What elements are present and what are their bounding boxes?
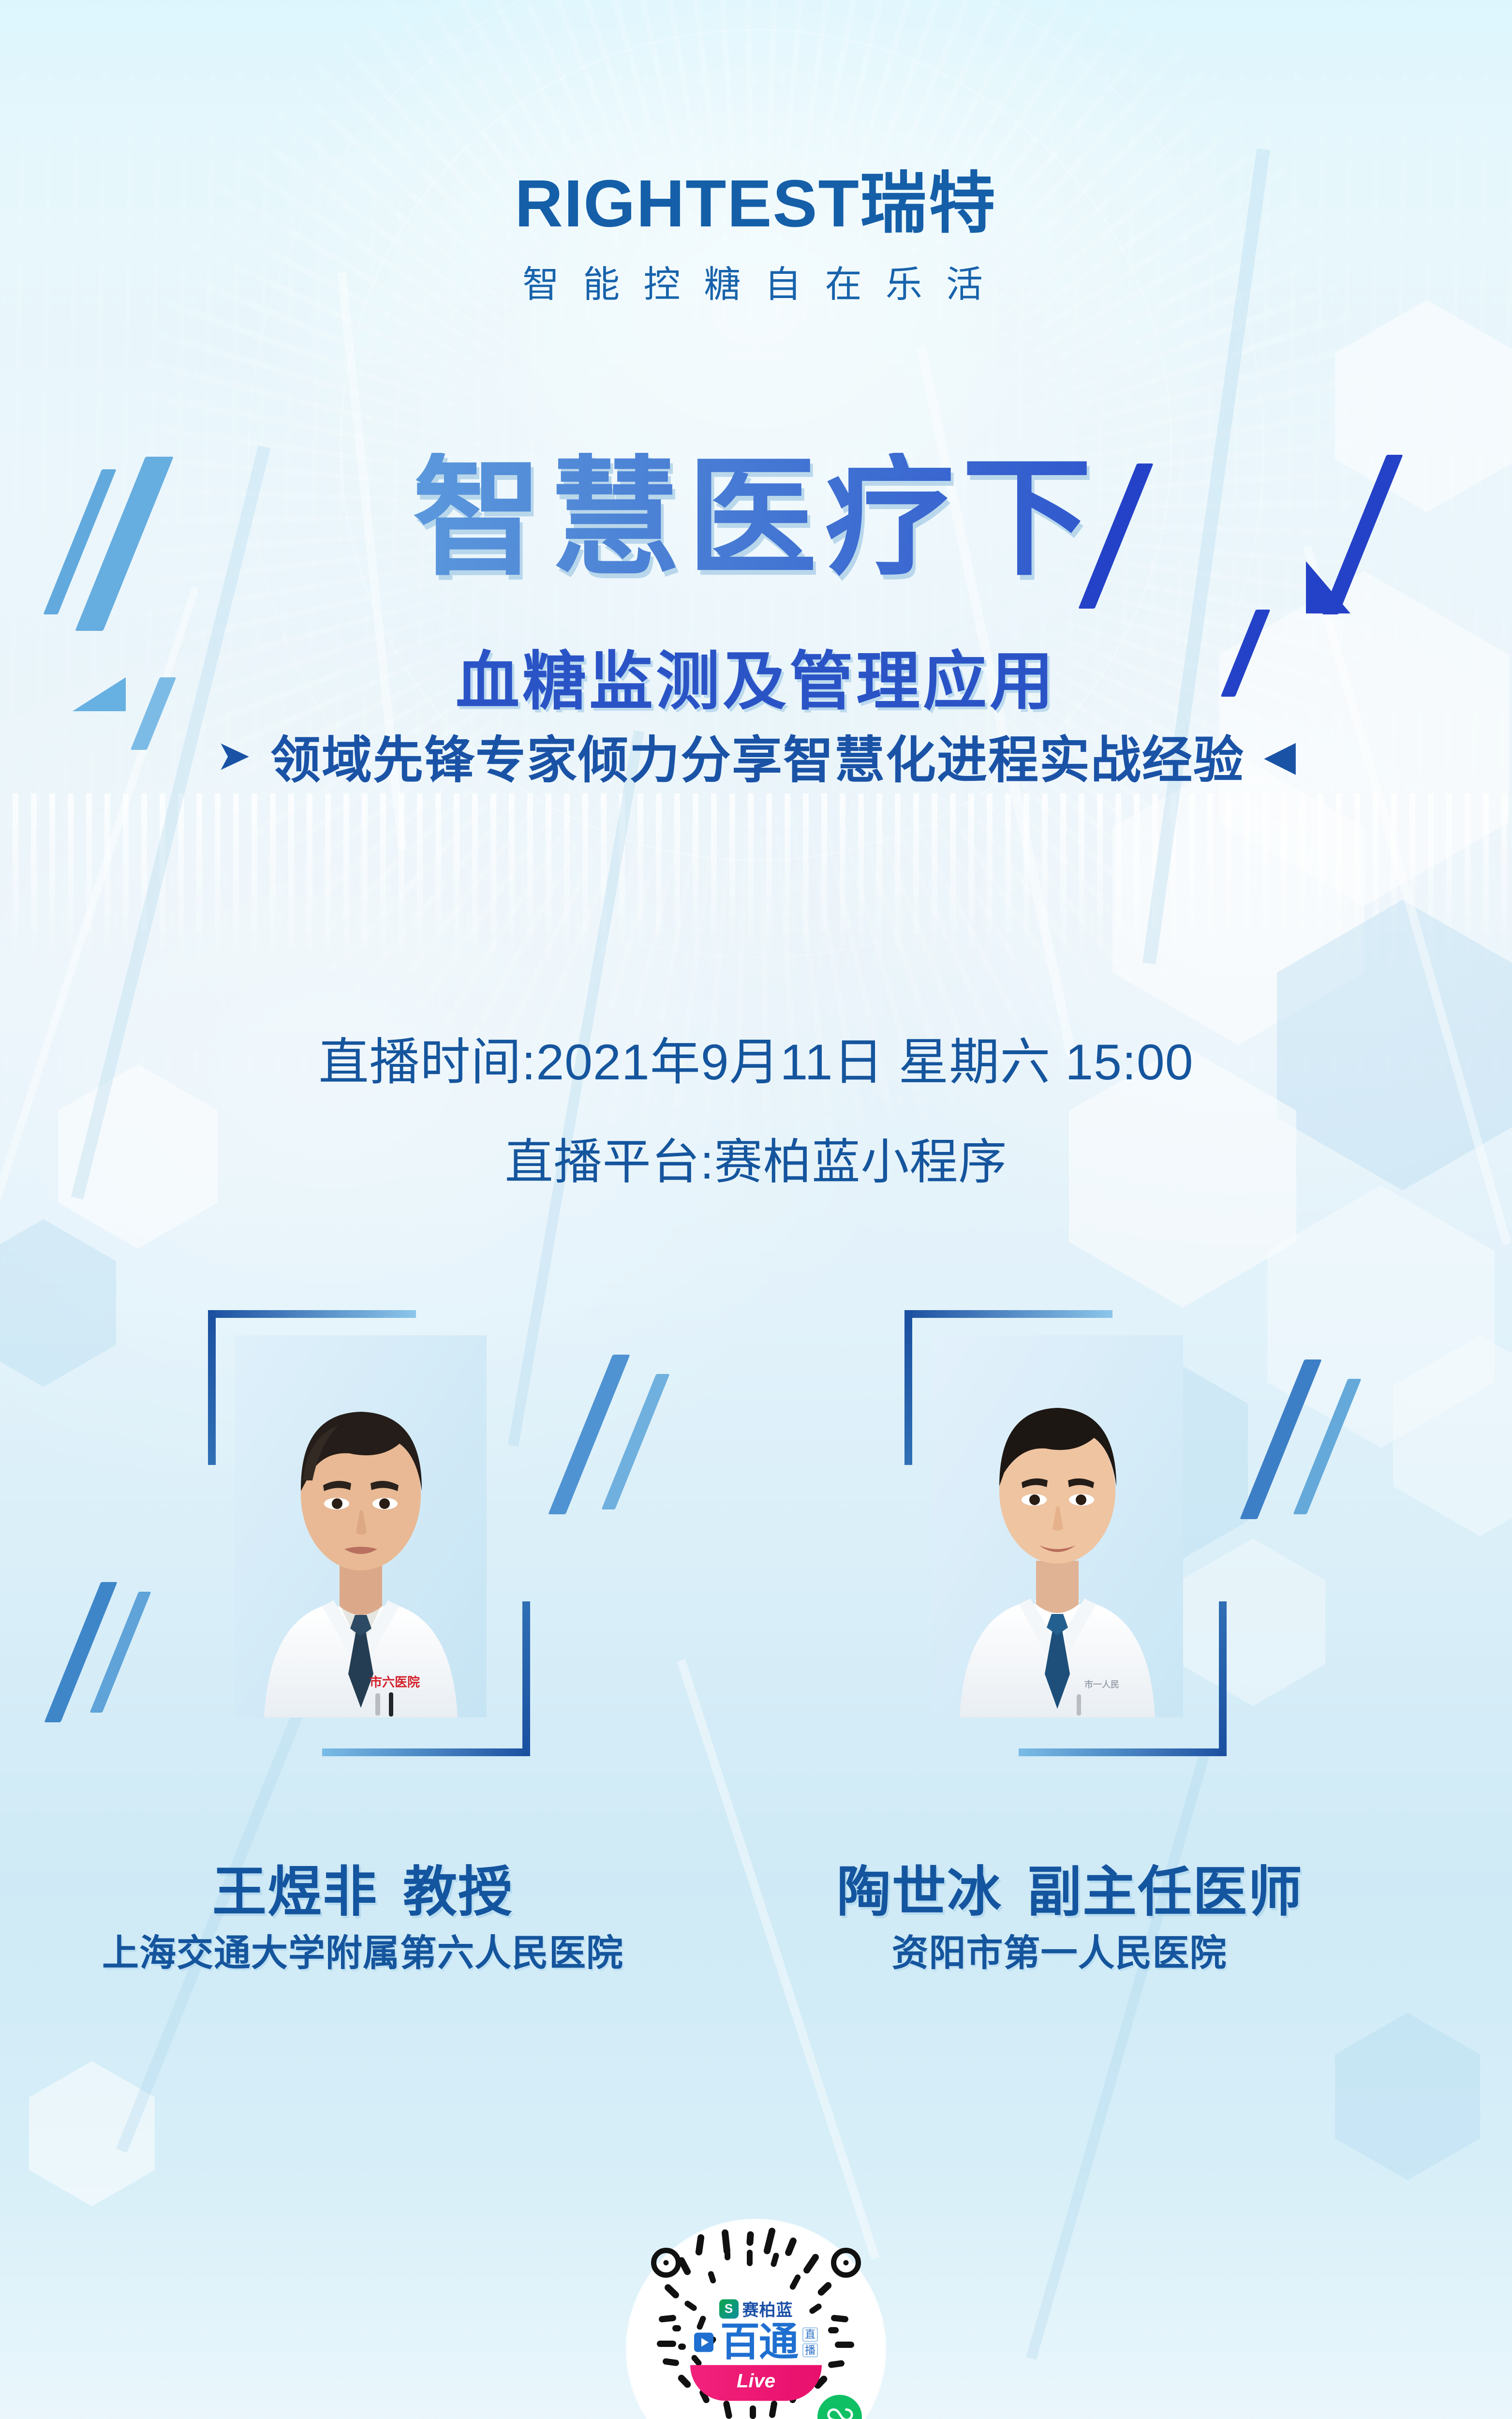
frame-corner-top-left-h-2 <box>904 1310 1112 1318</box>
qr-logo-row: 百通 直 播 <box>683 2323 829 2362</box>
brand-tagline: 智 能 控 糖 自 在 乐 活 <box>0 254 1512 308</box>
page-title: 智慧医疗下 <box>0 453 1512 582</box>
coat-badge-2: 市一人民 <box>1084 1679 1119 1689</box>
frame-corner-top-left-v-2 <box>904 1310 912 1465</box>
speaker-photo-1: 市六医院 <box>235 1335 487 1717</box>
page-subtitle: 血糖监测及管理应用 <box>0 630 1512 722</box>
frame-corner-bottom-right-v-2 <box>1219 1601 1227 1756</box>
brand-logo-cn: 瑞特 <box>860 166 997 241</box>
live-event-poster: RIGHTEST瑞特 智 能 控 糖 自 在 乐 活 智慧医疗下 血糖监测及管理… <box>0 0 1512 2419</box>
speaker-photo-2: 市一人民 <box>932 1335 1183 1717</box>
chevron-left-icon: ◀ <box>1264 735 1296 776</box>
chevron-right-icon: ➤ <box>216 735 251 776</box>
frame-corner-bottom-right-h <box>322 1748 530 1756</box>
frame-corner-top-left-v <box>208 1310 216 1465</box>
play-icon <box>694 2333 713 2352</box>
portrait-illustration-2: 市一人民 <box>932 1335 1183 1717</box>
speaker-card-2: 市一人民 陶世冰副主任医师 资阳市第一人民医院 <box>904 1301 1214 1756</box>
speaker-org-1: 上海交通大学附属第六人民医院 <box>82 1923 643 1976</box>
wechat-miniprogram-glyph <box>825 2402 855 2419</box>
portrait-illustration-1: 市六医院 <box>235 1335 487 1717</box>
title-tagline-row: ➤ 领域先锋专家倾力分享智慧化进程实战经验 ◀ <box>0 719 1512 792</box>
speaker-name-2: 陶世冰 <box>837 1862 1002 1922</box>
qr-eye-top-right <box>831 2248 861 2278</box>
title-tagline: 领域先锋专家倾力分享智慧化进程实战经验 <box>270 719 1245 792</box>
qr-section: S 赛柏蓝 百通 直 播 Live <box>0 2221 1512 2419</box>
speaker-name-1: 王煜非 <box>212 1862 378 1922</box>
speakers-section: 市六医院 王煜非教授 上海交通大学附属第六人民医院 <box>0 1301 1512 1785</box>
qr-logo-tag-top: 直 <box>802 2328 818 2342</box>
frame-corner-bottom-right-h-2 <box>1019 1748 1227 1756</box>
live-time: 直播时间:2021年9月11日 星期六 15:00 <box>0 1021 1512 1094</box>
saibailan-mark-icon: S <box>719 2299 739 2318</box>
speaker-name-row-2: 陶世冰副主任医师 <box>837 1848 1282 1926</box>
brand-logo-text: RIGHTEST瑞特 <box>0 170 1512 237</box>
speaker-org-2: 资阳市第一人民医院 <box>779 1923 1340 1976</box>
qr-live-label: Live <box>683 2365 829 2397</box>
qr-logo-text: 百通 <box>720 2323 798 2362</box>
brand-logo-latin: RIGHTEST <box>515 166 860 241</box>
title-block: 智慧医疗下 血糖监测及管理应用 ➤ 领域先锋专家倾力分享智慧化进程实战经验 ◀ <box>0 450 1512 818</box>
speaker-card-1: 市六医院 王煜非教授 上海交通大学附属第六人民医院 <box>208 1301 518 1756</box>
qr-logo-tag-bottom: 播 <box>802 2343 818 2357</box>
qr-brand-row: S 赛柏蓝 <box>683 2297 829 2321</box>
frame-corner-top-left-h <box>208 1310 416 1318</box>
frame-corner-bottom-right-v <box>522 1601 530 1756</box>
qr-code[interactable]: S 赛柏蓝 百通 直 播 Live <box>628 2221 884 2419</box>
speaker-title-2: 副主任医师 <box>1027 1862 1303 1922</box>
speaker-name-row-1: 王煜非教授 <box>140 1848 585 1926</box>
coat-badge-1: 市六医院 <box>370 1675 420 1689</box>
live-platform: 直播平台:赛柏蓝小程序 <box>0 1122 1512 1193</box>
qr-logo-tag: 直 播 <box>802 2328 818 2357</box>
background-hexagon-field <box>0 0 1512 2419</box>
brand-logo: RIGHTEST瑞特 智 能 控 糖 自 在 乐 活 <box>0 170 1512 308</box>
qr-brand-name: 赛柏蓝 <box>742 2297 793 2321</box>
qr-live-banner: Live <box>683 2365 829 2401</box>
qr-center-logo: S 赛柏蓝 百通 直 播 Live <box>683 2297 829 2401</box>
qr-eye-top-left <box>651 2248 681 2278</box>
speaker-title-1: 教授 <box>403 1862 513 1922</box>
